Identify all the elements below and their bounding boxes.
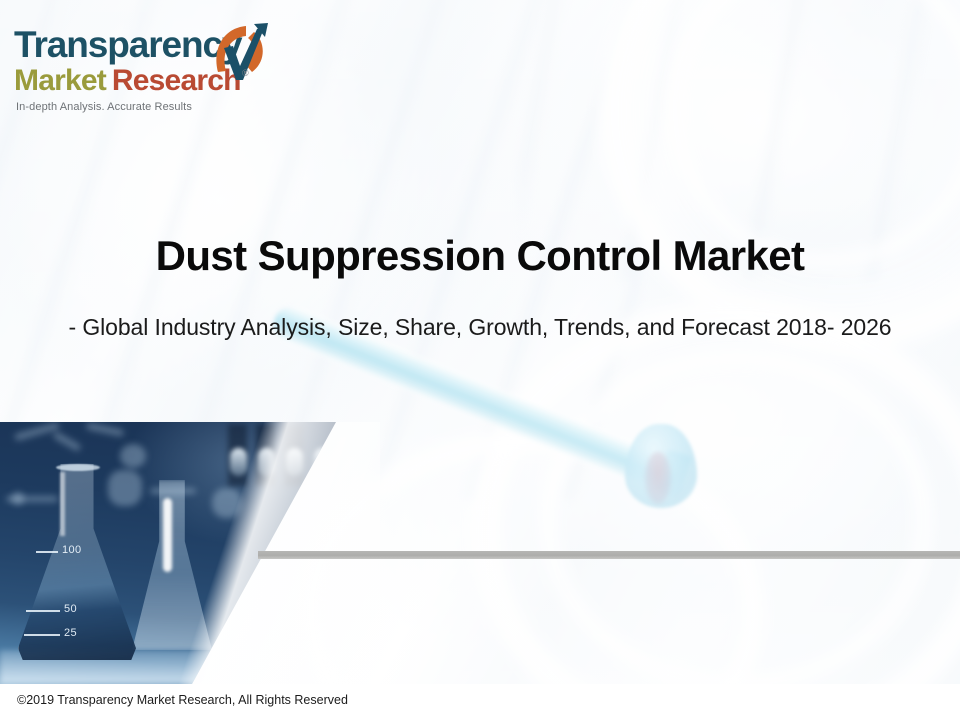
flask-rim [56,464,100,471]
flask-highlight [60,472,65,536]
flask-graduation-label-100: 100 [62,544,82,556]
test-tube-highlight [286,448,303,476]
copyright-text: ©2019 Transparency Market Research, All … [17,693,348,707]
page-title: Dust Suppression Control Market [0,232,960,279]
flask-graduation-tick [36,551,58,553]
test-tube-highlight [230,448,247,476]
registered-trademark-icon: ® [242,68,249,78]
logo-word-market: Market [14,64,106,97]
divider-rule [258,551,960,559]
chalk-mark [212,488,242,518]
test-tube-highlight [258,448,275,476]
report-cover-slide: 100 50 25 Transparency MarketResearch In… [0,0,960,720]
background-flask-highlight [163,498,172,572]
flask-graduation-label-50: 50 [64,603,77,615]
erlenmeyer-flask: 100 50 25 [18,464,136,660]
company-logo[interactable]: Transparency MarketResearch In-depth Ana… [14,26,266,126]
footer-bar: ©2019 Transparency Market Research, All … [0,684,960,720]
logo-tagline: In-depth Analysis. Accurate Results [16,101,266,113]
flask-graduation-tick [26,610,60,612]
flask-graduation-tick [24,634,60,636]
flask-graduation-label-25: 25 [64,627,77,639]
checkmark-arrow-icon [210,22,272,88]
page-subtitle: - Global Industry Analysis, Size, Share,… [0,314,960,342]
